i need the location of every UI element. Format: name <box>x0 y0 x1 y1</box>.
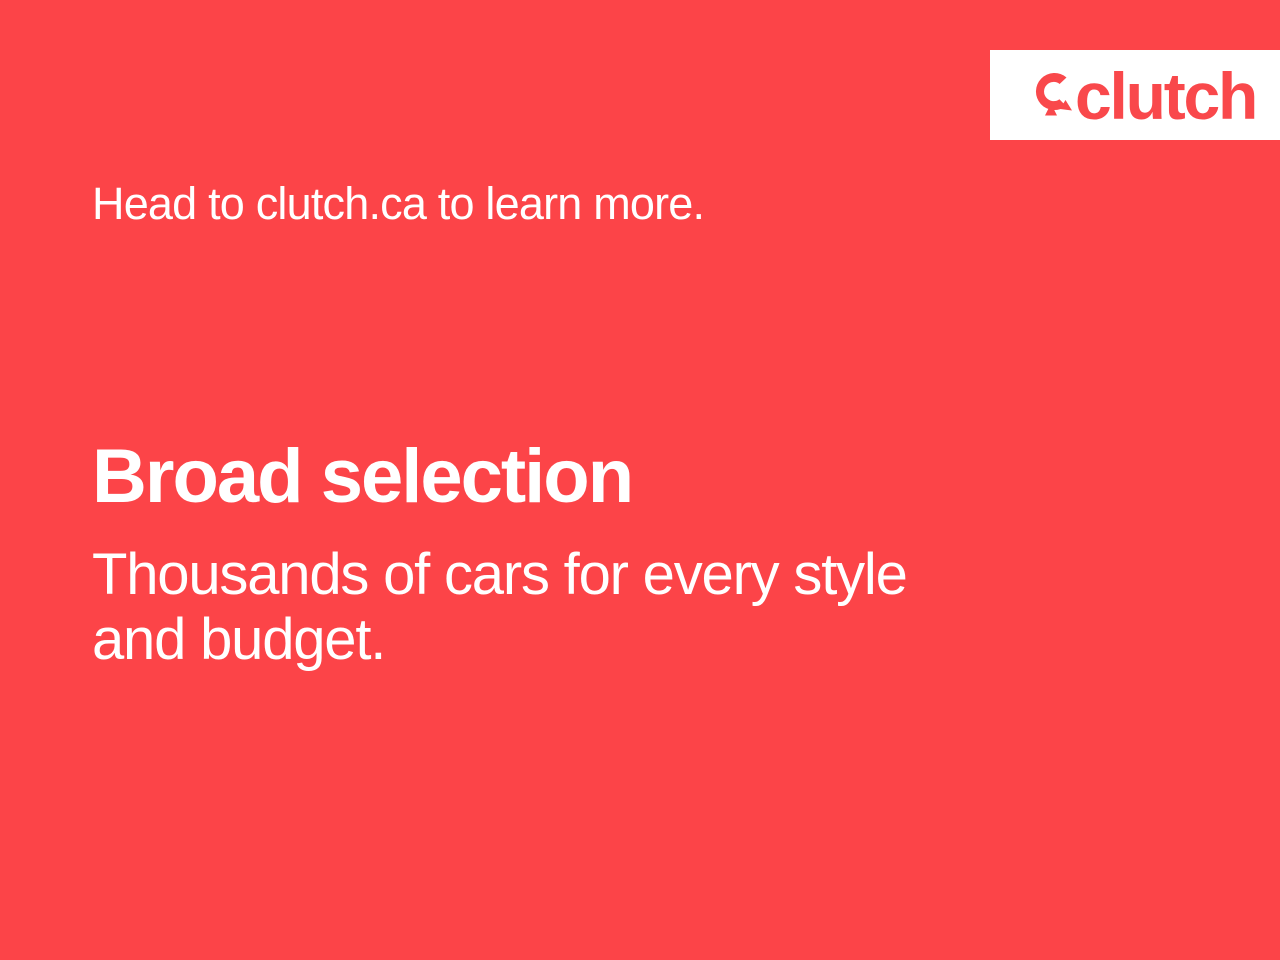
brand-logo-plate: clutch <box>990 50 1280 140</box>
brand-wordmark: clutch <box>1075 69 1256 123</box>
subhead-line-2: and budget. <box>92 608 1052 673</box>
subhead-line-1: Thousands of cars for every style <box>92 543 1052 608</box>
eyebrow-text: Head to clutch.ca to learn more. <box>92 178 704 230</box>
brand-logo-lockup: clutch <box>1028 67 1256 123</box>
slide-canvas: clutch Head to clutch.ca to learn more. … <box>0 0 1280 960</box>
clutch-disc-c-icon <box>1028 67 1074 123</box>
page-title: Broad selection <box>92 437 632 517</box>
subhead-text: Thousands of cars for every style and bu… <box>92 543 1052 673</box>
